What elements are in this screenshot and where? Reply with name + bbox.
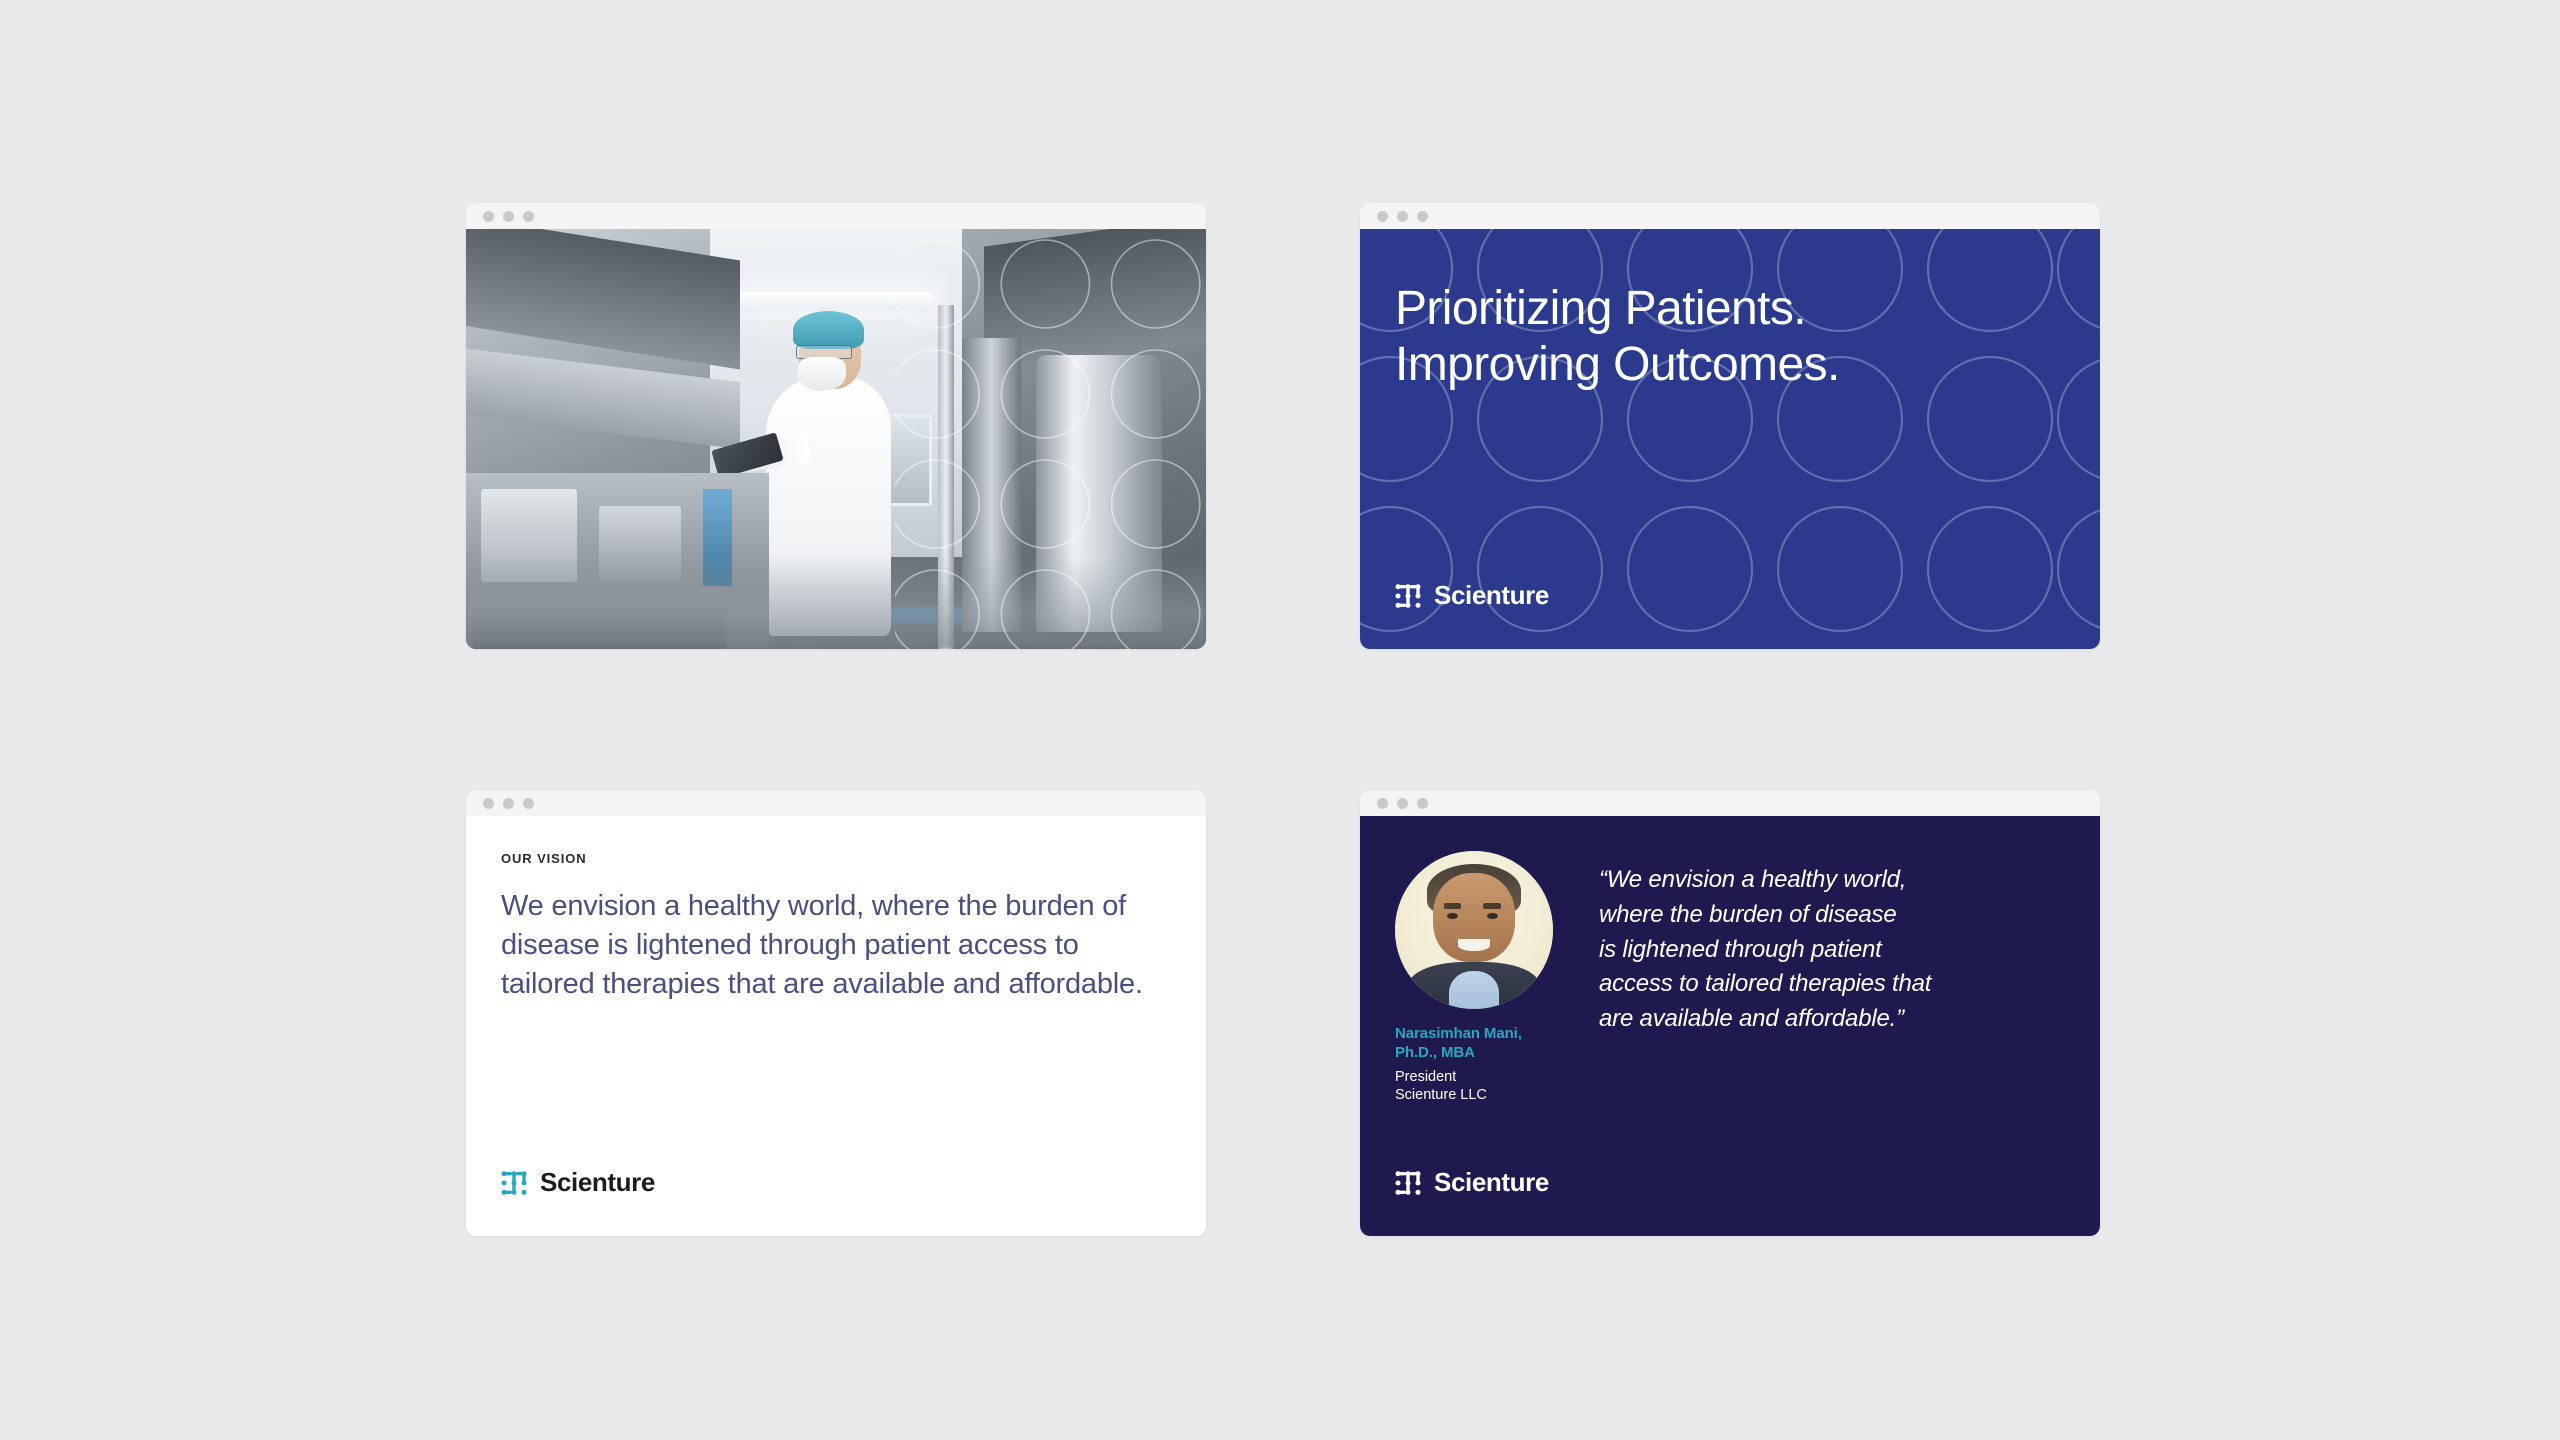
brand-logo-lockup[interactable]: Scienture <box>1395 580 2100 611</box>
window-titlebar <box>466 790 1206 816</box>
vision-body-text: We envision a healthy world, where the b… <box>501 887 1166 1004</box>
window-titlebar <box>1360 790 2100 816</box>
page-canvas: Prioritizing Patients. Improving Outcome… <box>0 0 2560 1440</box>
vision-eyebrow: OUR VISION <box>501 851 1166 866</box>
close-dot-icon[interactable] <box>483 211 494 222</box>
scienture-dot-grid-icon <box>1395 1170 1421 1196</box>
leadership-quote-card[interactable]: Narasimhan Mani, Ph.D., MBA President Sc… <box>1360 790 2100 1236</box>
scienture-dot-grid-icon <box>501 1170 527 1196</box>
brand-wordmark: Scienture <box>1434 580 1549 611</box>
person-block: Narasimhan Mani, Ph.D., MBA President Sc… <box>1395 851 1563 1161</box>
minimize-dot-icon[interactable] <box>1397 211 1408 222</box>
window-titlebar <box>466 203 1206 229</box>
minimize-dot-icon[interactable] <box>503 798 514 809</box>
close-dot-icon[interactable] <box>1377 798 1388 809</box>
hero-headline-card[interactable]: Prioritizing Patients. Improving Outcome… <box>1360 203 2100 649</box>
connected-circles-pattern-icon <box>895 229 1206 649</box>
lab-photo-body <box>466 229 1206 649</box>
close-dot-icon[interactable] <box>1377 211 1388 222</box>
close-dot-icon[interactable] <box>483 798 494 809</box>
quote-text: “We envision a healthy world, where the … <box>1599 851 2070 1161</box>
maximize-dot-icon[interactable] <box>523 211 534 222</box>
brand-wordmark: Scienture <box>540 1167 655 1198</box>
person-name: Narasimhan Mani, Ph.D., MBA <box>1395 1025 1563 1063</box>
minimize-dot-icon[interactable] <box>503 211 514 222</box>
minimize-dot-icon[interactable] <box>1397 798 1408 809</box>
lab-photo-image <box>466 229 1206 649</box>
vision-body: OUR VISION We envision a healthy world, … <box>466 816 1206 1236</box>
hero-headline: Prioritizing Patients. Improving Outcome… <box>1395 281 2100 392</box>
maximize-dot-icon[interactable] <box>523 798 534 809</box>
brand-logo-lockup[interactable]: Scienture <box>501 1167 1166 1198</box>
maximize-dot-icon[interactable] <box>1417 211 1428 222</box>
vision-statement-card[interactable]: OUR VISION We envision a healthy world, … <box>466 790 1206 1236</box>
scienture-dot-grid-icon <box>1395 583 1421 609</box>
avatar <box>1395 851 1553 1009</box>
hero-body: Prioritizing Patients. Improving Outcome… <box>1360 229 2100 649</box>
person-role: President Scienture LLC <box>1395 1068 1563 1106</box>
window-titlebar <box>1360 203 2100 229</box>
maximize-dot-icon[interactable] <box>1417 798 1428 809</box>
brand-wordmark: Scienture <box>1434 1167 1549 1198</box>
quote-body: Narasimhan Mani, Ph.D., MBA President Sc… <box>1360 816 2100 1236</box>
lab-photo-card[interactable] <box>466 203 1206 649</box>
brand-logo-lockup[interactable]: Scienture <box>1395 1167 2070 1198</box>
